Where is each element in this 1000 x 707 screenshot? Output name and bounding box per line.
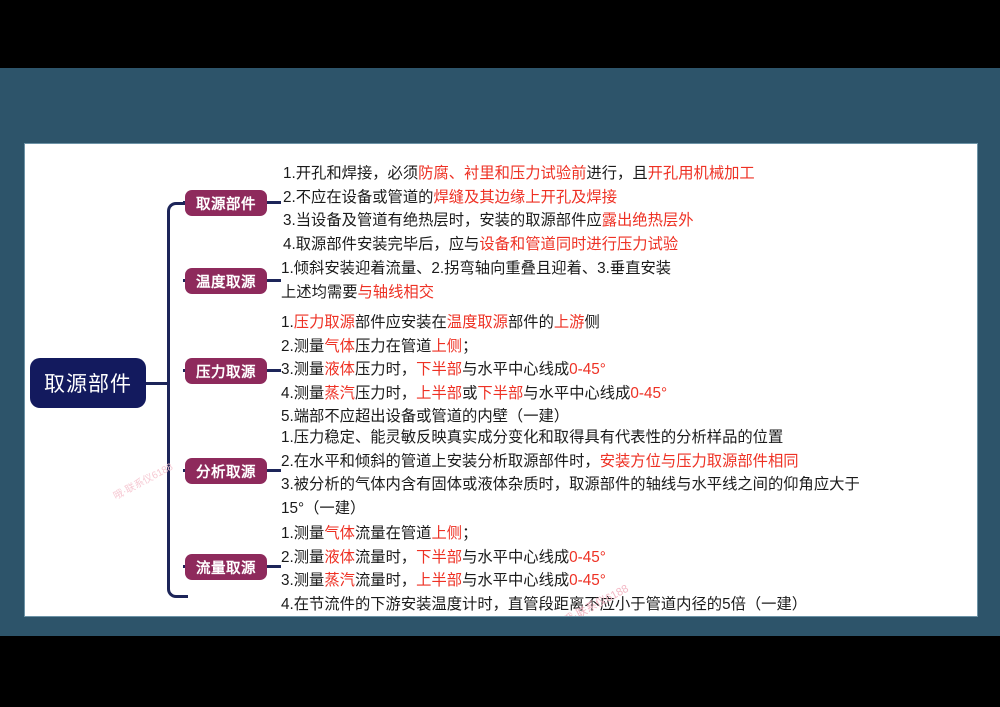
text-line: 1.测量气体流量在管道上侧； [281,522,807,546]
body-text: 压力时， [355,385,416,402]
watermark-text-secondary: 哦·联系仪6188 [110,458,175,502]
body-text: 2.测量 [281,338,324,355]
branch-pill-1-label: 取源部件 [196,193,256,214]
body-text: 4.测量 [281,385,324,402]
body-text: 部件应安装在 [355,314,447,331]
body-text: 1.测量 [281,525,324,542]
highlight-text: 露出绝热层外 [602,212,694,229]
highlight-text: 液体 [324,549,355,566]
text-line: 4.取源部件安装完毕后，应与设备和管道同时进行压力试验 [283,233,755,257]
highlight-text: 上游 [554,314,585,331]
text-line: 15°（一建） [281,497,860,521]
branch-text-5: 1.测量气体流量在管道上侧；2.测量液体流量时，下半部与水平中心线成0-45°3… [281,522,807,616]
mindmap: 取源部件 取源部件 1.开孔和焊接，必须防腐、衬里和压力试验前进行，且开孔用机械… [25,144,977,616]
body-text: 部件的 [508,314,554,331]
text-line: 2.测量气体压力在管道上侧； [281,335,667,359]
body-text: 或 [462,385,477,402]
body-text: ； [462,525,477,542]
branch-pill-4[interactable]: 分析取源 [185,458,267,484]
body-text: 1.开孔和焊接，必须 [283,165,418,182]
text-line: 2.测量液体流量时，下半部与水平中心线成0-45° [281,546,807,570]
branch-text-stub-3 [267,369,281,372]
text-line: 3.被分析的气体内含有固体或液体杂质时，取源部件的轴线与水平线之间的仰角应大于 [281,473,860,497]
body-text: 进行，且 [586,165,647,182]
branch-text-4: 1.压力稳定、能灵敏反映真实成分变化和取得具有代表性的分析样品的位置2.在水平和… [281,426,860,520]
text-line: 1.倾斜安装迎着流量、2.拐弯轴向重叠且迎着、3.垂直安装 [281,257,671,281]
body-text: 1.压力稳定、能灵敏反映真实成分变化和取得具有代表性的分析样品的位置 [281,429,783,446]
highlight-text: 0-45° [569,572,606,589]
branch-text-stub-4 [267,469,281,472]
highlight-text: 气体 [324,525,355,542]
branch-pill-5[interactable]: 流量取源 [185,554,267,580]
highlight-text: 压力取源 [294,314,355,331]
highlight-text: 设备和管道同时进行压力试验 [479,236,678,253]
branch-text-stub-5 [267,565,281,568]
body-text: 与水平中心线成 [462,361,569,378]
branch-pill-2[interactable]: 温度取源 [185,268,267,294]
body-text: 15°（一建） [281,500,365,517]
body-text: 压力时， [355,361,416,378]
highlight-text: 蒸汽 [324,385,355,402]
branch-text-2: 1.倾斜安装迎着流量、2.拐弯轴向重叠且迎着、3.垂直安装上述均需要与轴线相交 [281,257,671,304]
body-text: 4.在节流件的下游安装温度计时，直管段距离不应小于管道内径的5倍（一建） [281,596,807,613]
body-text: 3.测量 [281,361,324,378]
body-text: 2.不应在设备或管道的 [283,189,433,206]
body-text: 压力在管道 [355,338,432,355]
highlight-text: 下半部 [416,361,462,378]
body-text: 2.在水平和倾斜的管道上安装分析取源部件时， [281,453,600,470]
branch-text-3: 1.压力取源部件应安装在温度取源部件的上游侧2.测量气体压力在管道上侧；3.测量… [281,311,667,429]
highlight-text: 开孔用机械加工 [648,165,755,182]
highlight-text: 安装方位与压力取源部件相同 [600,453,799,470]
body-text: 侧 [584,314,599,331]
text-line: 4.测量蒸汽压力时，上半部或下半部与水平中心线成0-45° [281,382,667,406]
root-connector-stub [146,382,167,385]
text-line: 3.测量蒸汽流量时，上半部与水平中心线成0-45° [281,569,807,593]
body-text: 流量时， [355,572,416,589]
branch-pill-5-label: 流量取源 [196,557,256,578]
text-line: 1.压力稳定、能灵敏反映真实成分变化和取得具有代表性的分析样品的位置 [281,426,860,450]
highlight-text: 0-45° [630,385,667,402]
text-line: 3.测量液体压力时，下半部与水平中心线成0-45° [281,358,667,382]
body-text: ； [462,338,477,355]
text-line: 1.开孔和焊接，必须防腐、衬里和压力试验前进行，且开孔用机械加工 [283,162,755,186]
body-text: 流量时， [355,549,416,566]
body-text: 3.测量 [281,572,324,589]
text-line: 2.不应在设备或管道的焊缝及其边缘上开孔及焊接 [283,186,755,210]
text-line: 2.在水平和倾斜的管道上安装分析取源部件时，安装方位与压力取源部件相同 [281,450,860,474]
branch-pill-1[interactable]: 取源部件 [185,190,267,216]
highlight-text: 蒸汽 [324,572,355,589]
text-line: 4.在节流件的下游安装温度计时，直管段距离不应小于管道内径的5倍（一建） [281,593,807,617]
highlight-text: 上半部 [416,572,462,589]
highlight-text: 下半部 [477,385,523,402]
highlight-text: 下半部 [416,549,462,566]
body-text: 5.端部不应超出设备或管道的内壁（一建） [281,408,569,425]
body-text: 2.测量 [281,549,324,566]
branch-pill-3-label: 压力取源 [196,361,256,382]
body-text: 3.被分析的气体内含有固体或液体杂质时，取源部件的轴线与水平线之间的仰角应大于 [281,476,860,493]
branch-pill-3[interactable]: 压力取源 [185,358,267,384]
highlight-text: 上侧 [431,525,462,542]
branch-pill-2-label: 温度取源 [196,271,256,292]
branch-text-1: 1.开孔和焊接，必须防腐、衬里和压力试验前进行，且开孔用机械加工2.不应在设备或… [283,162,755,256]
highlight-text: 气体 [324,338,355,355]
highlight-text: 液体 [324,361,355,378]
content-panel: 取源部件 取源部件 1.开孔和焊接，必须防腐、衬里和压力试验前进行，且开孔用机械… [24,143,978,617]
branch-text-stub-1 [267,201,281,204]
text-line: 1.压力取源部件应安装在温度取源部件的上游侧 [281,311,667,335]
body-text: 4.取源部件安装完毕后，应与 [283,236,479,253]
mindmap-root-label: 取源部件 [44,368,132,398]
highlight-text: 0-45° [569,549,606,566]
highlight-text: 防腐、衬里和压力试验前 [418,165,586,182]
branch-text-stub-2 [267,279,281,282]
body-text: 1.倾斜安装迎着流量、2.拐弯轴向重叠且迎着、3.垂直安装 [281,260,671,277]
text-line: 上述均需要与轴线相交 [281,281,671,305]
mindmap-root-node[interactable]: 取源部件 [30,358,146,408]
highlight-text: 与轴线相交 [358,284,435,301]
highlight-text: 焊缝及其边缘上开孔及焊接 [433,189,617,206]
body-text: 与水平中心线成 [523,385,630,402]
body-text: 上述均需要 [281,284,358,301]
body-text: 与水平中心线成 [462,549,569,566]
highlight-text: 0-45° [569,361,606,378]
body-text: 流量在管道 [355,525,432,542]
body-text: 3.当设备及管道有绝热层时，安装的取源部件应 [283,212,602,229]
highlight-text: 上半部 [416,385,462,402]
body-text: 与水平中心线成 [462,572,569,589]
mindmap-spine [167,202,188,598]
text-line: 5.端部不应超出设备或管道的内壁（一建） [281,405,667,429]
body-text: 1. [281,314,294,331]
highlight-text: 上侧 [431,338,462,355]
highlight-text: 温度取源 [447,314,508,331]
branch-pill-4-label: 分析取源 [196,461,256,482]
text-line: 3.当设备及管道有绝热层时，安装的取源部件应露出绝热层外 [283,209,755,233]
